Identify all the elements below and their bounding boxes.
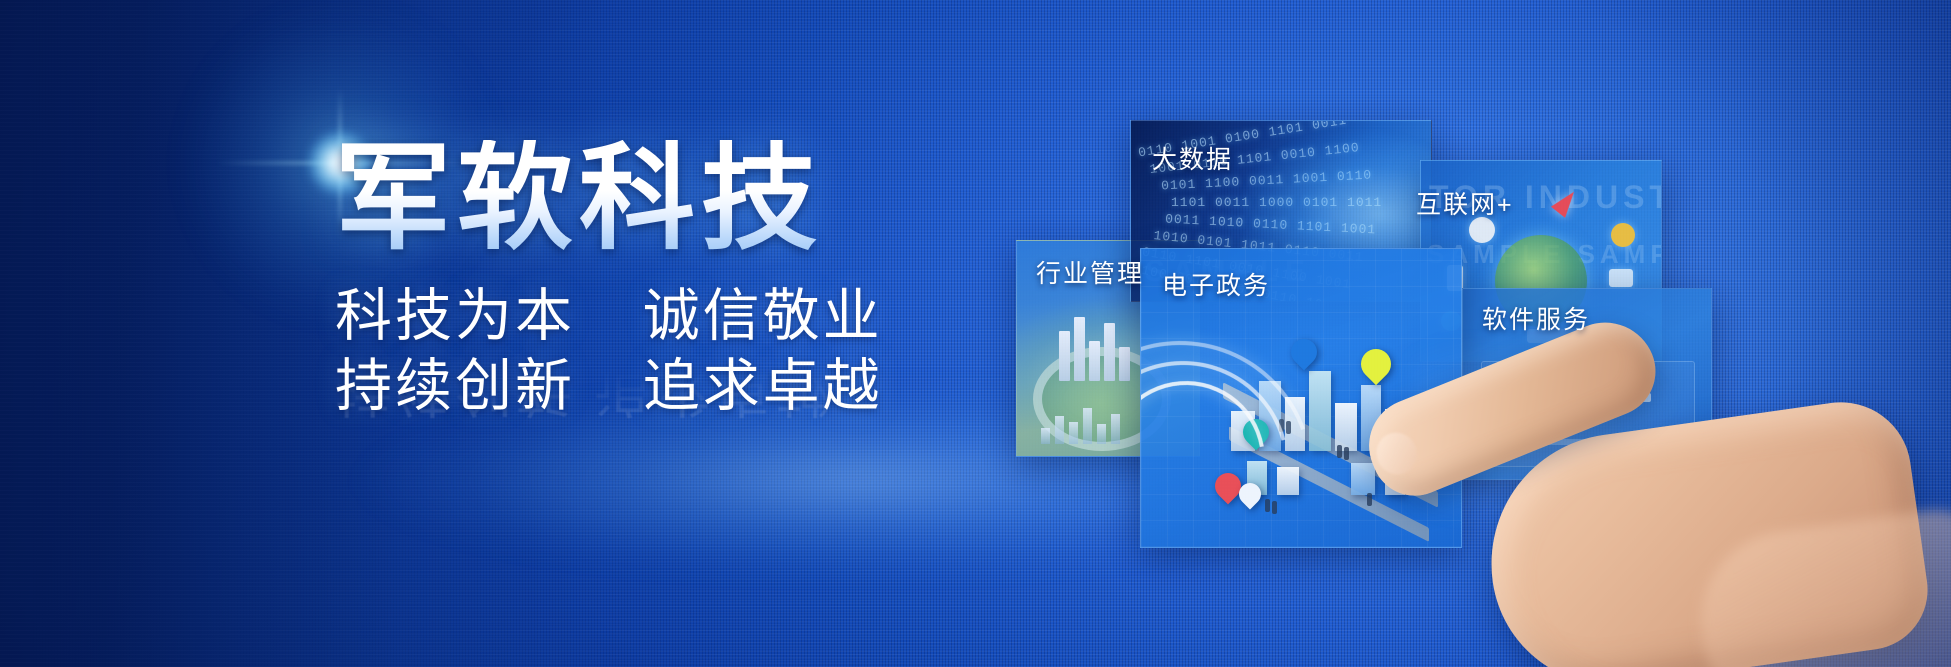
- brand-title: 军软科技: [335, 140, 995, 256]
- card-label-software-services: 软件服务: [1482, 300, 1590, 336]
- pointing-hand-image: [1370, 360, 1930, 667]
- tagline-line-2: 持续创新 追求卓越: [335, 352, 995, 422]
- coin-node-icon: [1611, 223, 1635, 247]
- hand-knuckles: [1689, 502, 1951, 667]
- tagline-line-2-part-2: 追求卓越: [643, 354, 883, 418]
- tagline-line-1: 科技为本 诚信敬业: [335, 282, 995, 352]
- tagline-line-2-part-1: 持续创新: [335, 354, 575, 418]
- fingernail: [1370, 427, 1423, 481]
- card-label-e-government: 电子政务: [1162, 266, 1270, 302]
- tagline-block: 科技为本 诚信敬业 持续创新 追求卓越 持续创新 追求卓越: [335, 282, 995, 493]
- tagline-line-1-part-2: 诚信敬业: [643, 284, 883, 348]
- card-label-internet-plus: 互联网+: [1416, 185, 1514, 221]
- headline-block: 军软科技 科技为本 诚信敬业 持续创新 追求卓越 持续创新 追求卓越: [335, 140, 995, 493]
- promo-banner: 军软科技 科技为本 诚信敬业 持续创新 追求卓越 持续创新 追求卓越: [0, 0, 1951, 667]
- monitor-icon: [1609, 269, 1633, 287]
- bar-chart-icon: [1041, 398, 1131, 444]
- card-label-industry-management: 行业管理: [1036, 254, 1144, 290]
- tagline-line-1-part-1: 科技为本: [335, 284, 575, 348]
- city-towers-icon: [1059, 315, 1141, 381]
- card-label-big-data: 大数据: [1152, 140, 1233, 176]
